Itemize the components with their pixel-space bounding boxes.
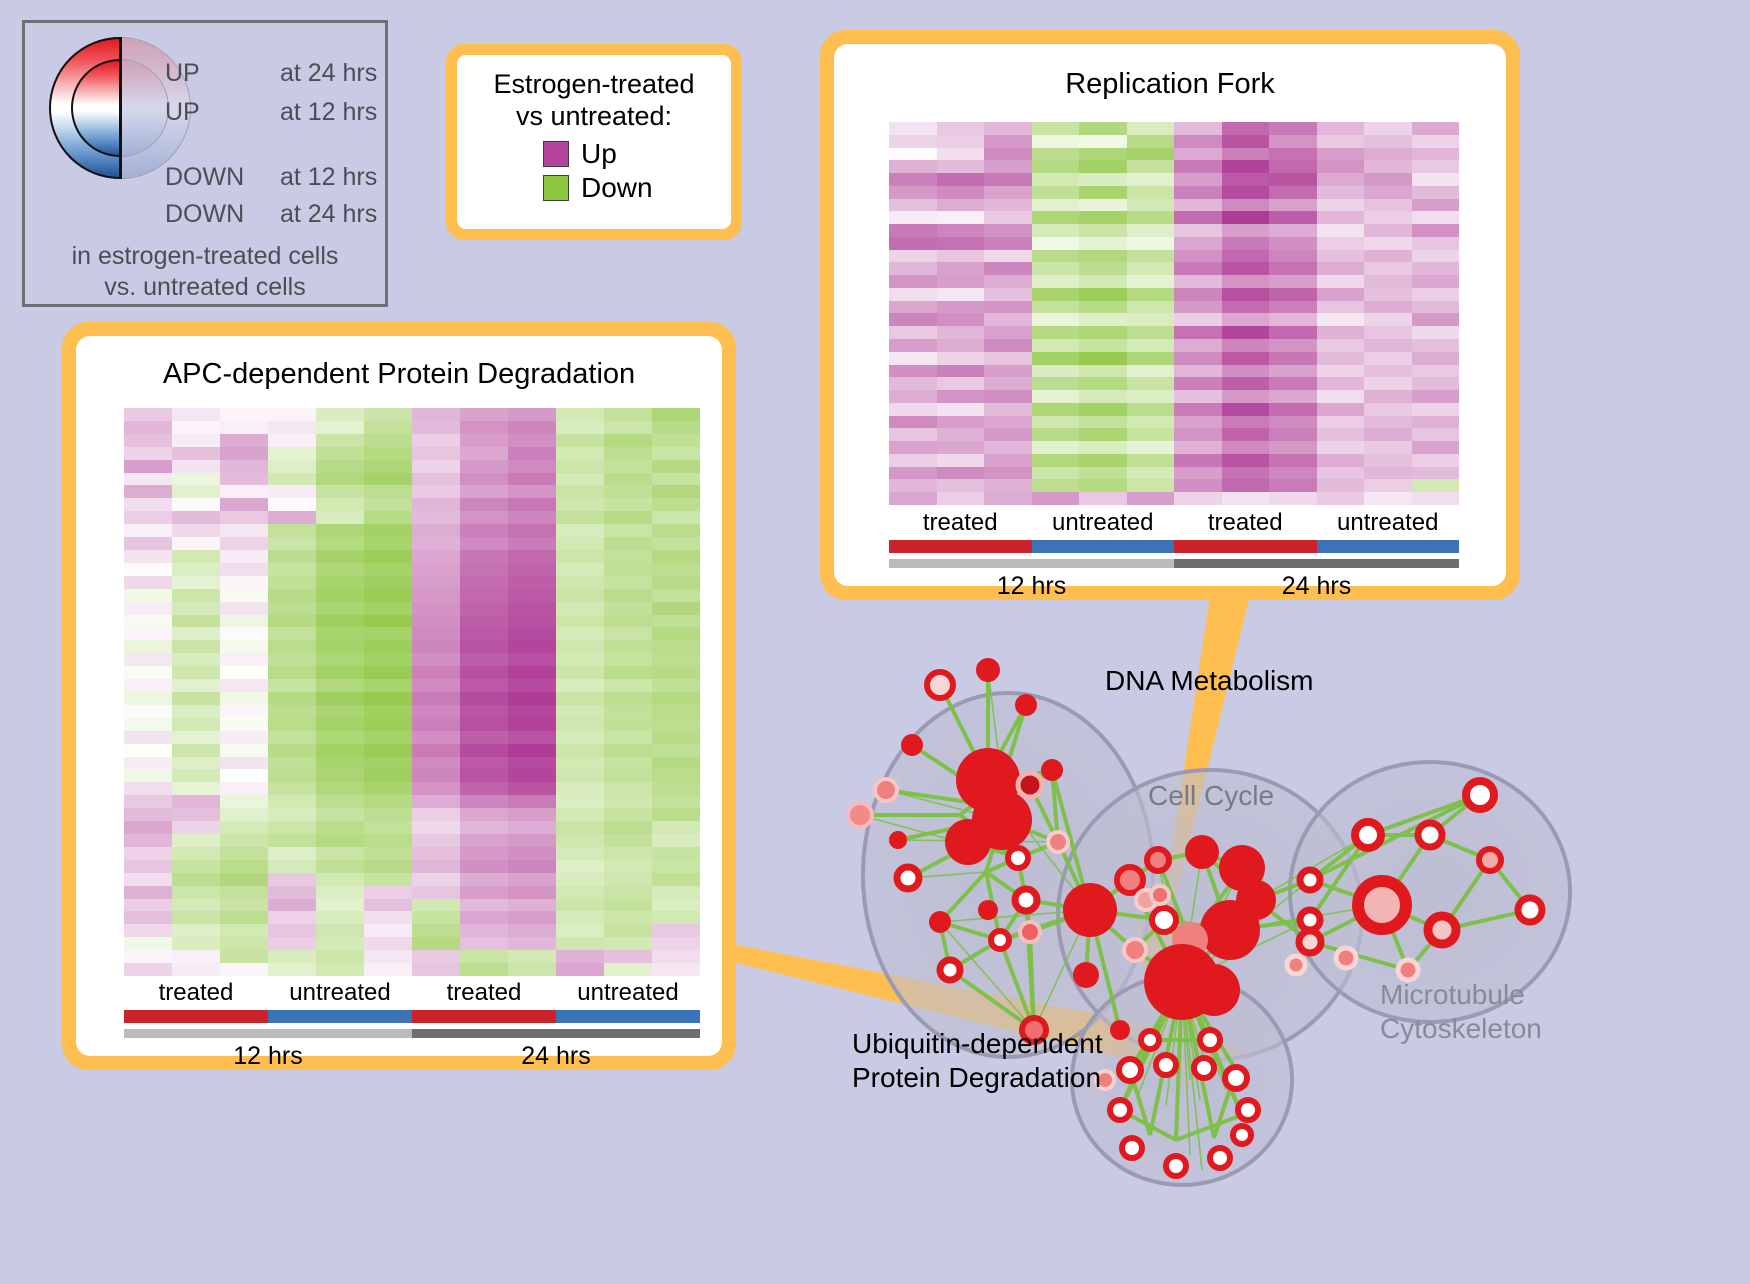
- time-label: 24 hrs: [412, 1042, 700, 1072]
- heatmap-cell: [172, 847, 220, 860]
- heatmap-cell: [124, 795, 172, 808]
- node[interactable]: [1110, 1020, 1130, 1040]
- heatmap-cell: [124, 485, 172, 498]
- heatmap-cell: [1079, 377, 1127, 390]
- legend-caption-line2: vs. untreated cells: [25, 272, 385, 303]
- heatmap-cell: [652, 911, 700, 924]
- heatmap-cell: [1032, 479, 1080, 492]
- node[interactable]: [1122, 1138, 1142, 1158]
- heatmap-cell: [604, 640, 652, 653]
- heatmap-cell: [889, 122, 937, 135]
- heatmap-cell: [1079, 275, 1127, 288]
- heatmap-cell: [1412, 390, 1460, 403]
- heatmap-cell: [1317, 352, 1365, 365]
- heatmap-cell: [460, 498, 508, 511]
- node[interactable]: [945, 819, 991, 865]
- cluster-label-ubiquitin: Ubiquitin-dependent Protein Degradation: [852, 1027, 1103, 1094]
- heatmap-cell: [460, 782, 508, 795]
- heatmap-cell: [1317, 441, 1365, 454]
- heatmap-cell: [1317, 237, 1365, 250]
- heatmap-cell: [1269, 250, 1317, 263]
- node[interactable]: [1479, 849, 1501, 871]
- node[interactable]: [1336, 948, 1356, 968]
- heatmap-cell: [316, 808, 364, 821]
- heatmap-cell: [412, 692, 460, 705]
- heatmap-cell: [1127, 454, 1175, 467]
- node[interactable]: [1018, 773, 1042, 797]
- heatmap-cell: [604, 808, 652, 821]
- heatmap-cell: [652, 537, 700, 550]
- heatmap-cell: [556, 421, 604, 434]
- figure-canvas: UP at 24 hrs UP at 12 hrs DOWN at 12 hrs…: [0, 0, 1750, 1279]
- node[interactable]: [1358, 881, 1406, 929]
- heatmap-cell: [1269, 454, 1317, 467]
- heatmap-cell: [316, 485, 364, 498]
- cluster-label-ubiquitin-line2: Protein Degradation: [852, 1061, 1103, 1095]
- heatmap-cell: [1079, 148, 1127, 161]
- node[interactable]: [1418, 823, 1442, 847]
- heatmap-cell: [937, 211, 985, 224]
- heatmap-cell: [1032, 390, 1080, 403]
- heatmap-cell: [268, 524, 316, 537]
- heatmap-cell: [364, 576, 412, 589]
- heatmap-cell: [1364, 365, 1412, 378]
- heatmap-cell: [1079, 403, 1127, 416]
- node[interactable]: [1185, 835, 1219, 869]
- heatmap-cell: [1174, 275, 1222, 288]
- heatmap-cell: [1127, 428, 1175, 441]
- heatmap-cell: [364, 744, 412, 757]
- node[interactable]: [1141, 1031, 1159, 1049]
- heatmap-cell: [508, 666, 556, 679]
- heatmap-cell: [1412, 313, 1460, 326]
- heatmap-cell: [556, 924, 604, 937]
- heatmap-cell: [1222, 403, 1270, 416]
- heatmap-cell: [316, 602, 364, 615]
- node[interactable]: [1428, 916, 1456, 944]
- time-label: 12 hrs: [124, 1042, 412, 1072]
- heatmap-cell: [172, 408, 220, 421]
- node[interactable]: [1119, 1059, 1141, 1081]
- heatmap-cell: [364, 899, 412, 912]
- heatmap-cell: [268, 744, 316, 757]
- heatmap-cell: [1317, 492, 1365, 505]
- node[interactable]: [848, 803, 872, 827]
- heatmap-cell: [124, 692, 172, 705]
- heatmap-cell: [556, 769, 604, 782]
- heatmap-cell: [604, 731, 652, 744]
- heatmap-cell: [1174, 288, 1222, 301]
- heatmap-cell: [1222, 377, 1270, 390]
- heatmap-cell: [1222, 148, 1270, 161]
- node[interactable]: [1152, 908, 1176, 932]
- heatmap-cell: [1032, 428, 1080, 441]
- heatmap-cell: [172, 808, 220, 821]
- heatmap-cell: [220, 705, 268, 718]
- heatmap-cell: [984, 122, 1032, 135]
- heatmap-cell: [172, 563, 220, 576]
- heatmap-cell: [220, 640, 268, 653]
- heatmap-cell: [937, 313, 985, 326]
- heatmap-cell: [412, 937, 460, 950]
- node[interactable]: [927, 672, 953, 698]
- heatmap-cell: [556, 615, 604, 628]
- heatmap-cell: [1174, 160, 1222, 173]
- heatmap-cell: [124, 847, 172, 860]
- node[interactable]: [1225, 1067, 1247, 1089]
- heatmap-cell: [937, 492, 985, 505]
- heatmap-cell: [1412, 262, 1460, 275]
- heatmap-cell: [220, 485, 268, 498]
- heatmap-cell: [268, 847, 316, 860]
- heatmap-cell: [220, 911, 268, 924]
- heatmap-cell: [604, 563, 652, 576]
- heatmap-apc-time-bar: [124, 1029, 700, 1038]
- heatmap-cell: [124, 653, 172, 666]
- heatmap-replication-time-labels: 12 hrs24 hrs: [889, 572, 1459, 602]
- heatmap-cell: [1174, 428, 1222, 441]
- node[interactable]: [978, 900, 998, 920]
- heatmap-cell: [508, 511, 556, 524]
- heatmap-cell: [220, 434, 268, 447]
- node[interactable]: [1194, 1058, 1214, 1078]
- heatmap-cell: [1127, 377, 1175, 390]
- heatmap-cell: [172, 602, 220, 615]
- heatmap-cell: [652, 834, 700, 847]
- node[interactable]: [1188, 964, 1240, 1016]
- network-svg: [790, 610, 1740, 1279]
- heatmap-cell: [172, 666, 220, 679]
- heatmap-cell: [172, 886, 220, 899]
- heatmap-cell: [412, 731, 460, 744]
- heatmap-cell: [556, 808, 604, 821]
- heatmap-cell: [460, 524, 508, 537]
- heatmap-cell: [1174, 224, 1222, 237]
- legend-caption: in estrogen-treated cells vs. untreated …: [25, 241, 385, 302]
- node[interactable]: [1300, 870, 1320, 890]
- heatmap-cell: [652, 498, 700, 511]
- heatmap-cell: [1317, 122, 1365, 135]
- heatmap-cell: [268, 447, 316, 460]
- heatmap-cell: [364, 485, 412, 498]
- heatmap-cell: [220, 408, 268, 421]
- node[interactable]: [1008, 848, 1028, 868]
- node[interactable]: [1151, 886, 1169, 904]
- heatmap-cell: [1412, 135, 1460, 148]
- legend-updown-title: Estrogen-treated vs untreated:: [457, 69, 731, 132]
- heatmap-cell: [556, 757, 604, 770]
- heatmap-cell: [604, 744, 652, 757]
- heatmap-cell: [1412, 224, 1460, 237]
- node[interactable]: [1124, 939, 1146, 961]
- heatmap-cell: [220, 963, 268, 976]
- node[interactable]: [1355, 822, 1381, 848]
- heatmap-cell: [1222, 454, 1270, 467]
- heatmap-cell: [316, 589, 364, 602]
- node[interactable]: [976, 658, 1000, 682]
- heatmap-cell: [268, 498, 316, 511]
- heatmap-cell: [1032, 326, 1080, 339]
- heatmap-cell: [460, 731, 508, 744]
- heatmap-cell: [1364, 237, 1412, 250]
- heatmap-cell: [889, 301, 937, 314]
- node[interactable]: [875, 779, 897, 801]
- heatmap-cell: [508, 924, 556, 937]
- node[interactable]: [1147, 849, 1169, 871]
- heatmap-cell: [1032, 262, 1080, 275]
- node[interactable]: [1156, 1055, 1176, 1075]
- heatmap-cell: [412, 627, 460, 640]
- heatmap-apc-condition-bar: [124, 1010, 700, 1023]
- heatmap-cell: [556, 434, 604, 447]
- heatmap-cell: [364, 640, 412, 653]
- heatmap-cell: [652, 640, 700, 653]
- node[interactable]: [1015, 694, 1037, 716]
- heatmap-cell: [604, 795, 652, 808]
- node[interactable]: [1299, 931, 1321, 953]
- heatmap-cell: [1079, 492, 1127, 505]
- heatmap-cell: [1269, 211, 1317, 224]
- heatmap-cell: [460, 473, 508, 486]
- heatmap-cell: [364, 653, 412, 666]
- heatmap-cell: [124, 782, 172, 795]
- node[interactable]: [1466, 781, 1494, 809]
- node[interactable]: [1015, 889, 1037, 911]
- heatmap-cell: [1222, 313, 1270, 326]
- heatmap-cell: [1269, 479, 1317, 492]
- heatmap-cell: [508, 485, 556, 498]
- heatmap-cell: [1032, 122, 1080, 135]
- node[interactable]: [940, 960, 960, 980]
- heatmap-cell: [652, 821, 700, 834]
- heatmap-cell: [1222, 288, 1270, 301]
- swatch-up-icon: [543, 141, 569, 167]
- heatmap-cell: [316, 615, 364, 628]
- heatmap-cell: [556, 834, 604, 847]
- legend-time-down-12: at 12 hrs: [280, 163, 377, 192]
- node[interactable]: [1300, 910, 1320, 930]
- node[interactable]: [1073, 962, 1099, 988]
- heatmap-cell: [364, 769, 412, 782]
- heatmap-cell: [268, 924, 316, 937]
- heatmap-cell: [1222, 250, 1270, 263]
- heatmap-cell: [937, 224, 985, 237]
- node[interactable]: [901, 734, 923, 756]
- node[interactable]: [1041, 759, 1063, 781]
- legend-time-down-24: at 24 hrs: [280, 200, 377, 229]
- heatmap-cell: [1032, 377, 1080, 390]
- heatmap-cell: [1412, 211, 1460, 224]
- heatmap-cell: [1222, 160, 1270, 173]
- heatmap-cell: [460, 485, 508, 498]
- heatmap-cell: [316, 498, 364, 511]
- heatmap-cell: [556, 679, 604, 692]
- heatmap-cell: [1032, 301, 1080, 314]
- node[interactable]: [897, 867, 919, 889]
- time-color-segment: [412, 1029, 700, 1038]
- heatmap-cell: [604, 485, 652, 498]
- heatmap-cell: [172, 627, 220, 640]
- heatmap-cell: [984, 428, 1032, 441]
- heatmap-cell: [412, 769, 460, 782]
- node[interactable]: [1518, 898, 1542, 922]
- heatmap-cell: [172, 589, 220, 602]
- node[interactable]: [1287, 956, 1305, 974]
- condition-color-segment: [1174, 540, 1317, 553]
- heatmap-cell: [1269, 262, 1317, 275]
- heatmap-cell: [460, 653, 508, 666]
- heatmap-cell: [937, 326, 985, 339]
- heatmap-cell: [604, 602, 652, 615]
- node[interactable]: [929, 911, 951, 933]
- heatmap-cell: [1127, 173, 1175, 186]
- heatmap-cell: [508, 731, 556, 744]
- heatmap-cell: [937, 479, 985, 492]
- heatmap-cell: [889, 199, 937, 212]
- heatmap-cell: [1079, 237, 1127, 250]
- legend-label-up: Up: [581, 138, 617, 170]
- node[interactable]: [1048, 832, 1068, 852]
- heatmap-cell: [1412, 275, 1460, 288]
- heatmap-cell: [364, 782, 412, 795]
- heatmap-cell: [316, 434, 364, 447]
- heatmap-cell: [937, 250, 985, 263]
- legend-row-down-12: DOWN at 12 hrs: [165, 163, 377, 192]
- heatmap-cell: [316, 950, 364, 963]
- heatmap-cell: [268, 408, 316, 421]
- node[interactable]: [1020, 922, 1040, 942]
- heatmap-cell: [508, 576, 556, 589]
- heatmap-cell: [268, 899, 316, 912]
- heatmap-cell: [412, 795, 460, 808]
- heatmap-cell: [1127, 467, 1175, 480]
- node[interactable]: [1233, 1126, 1251, 1144]
- heatmap-cell: [364, 537, 412, 550]
- heatmap-cell: [1269, 390, 1317, 403]
- cluster-label-dna-metabolism: DNA Metabolism: [1105, 665, 1314, 697]
- heatmap-cell: [1127, 416, 1175, 429]
- legend-updown-title-line2: vs untreated:: [457, 101, 731, 133]
- heatmap-cell: [1269, 339, 1317, 352]
- heatmap-cell: [556, 460, 604, 473]
- heatmap-cell: [364, 795, 412, 808]
- network-diagram: DNA Metabolism Cell Cycle Microtubule Cy…: [790, 610, 1740, 1279]
- legend-state-up-24: UP: [165, 59, 273, 88]
- heatmap-cell: [1269, 199, 1317, 212]
- heatmap-cell: [316, 937, 364, 950]
- heatmap-cell: [1079, 301, 1127, 314]
- heatmap-cell: [172, 821, 220, 834]
- heatmap-cell: [1174, 186, 1222, 199]
- heatmap-cell: [937, 173, 985, 186]
- heatmap-cell: [984, 237, 1032, 250]
- node[interactable]: [889, 831, 907, 849]
- node[interactable]: [991, 931, 1009, 949]
- heatmap-cell: [460, 873, 508, 886]
- heatmap-cell: [172, 937, 220, 950]
- heatmap-cell: [124, 511, 172, 524]
- heatmap-cell: [1364, 416, 1412, 429]
- heatmap-cell: [889, 428, 937, 441]
- heatmap-cell: [316, 563, 364, 576]
- heatmap-cell: [1079, 211, 1127, 224]
- heatmap-cell: [1174, 339, 1222, 352]
- heatmap-cell: [412, 847, 460, 860]
- heatmap-cell: [460, 511, 508, 524]
- heatmap-cell: [937, 122, 985, 135]
- heatmap-cell: [1412, 479, 1460, 492]
- heatmap-cell: [412, 911, 460, 924]
- heatmap-cell: [1127, 479, 1175, 492]
- heatmap-cell: [1317, 313, 1365, 326]
- heatmap-cell: [1364, 390, 1412, 403]
- node[interactable]: [1117, 867, 1143, 893]
- heatmap-cell: [268, 886, 316, 899]
- heatmap-cell: [889, 377, 937, 390]
- heatmap-cell: [316, 666, 364, 679]
- heatmap-cell: [1032, 492, 1080, 505]
- heatmap-cell: [937, 339, 985, 352]
- node[interactable]: [1063, 883, 1117, 937]
- heatmap-cell: [1269, 301, 1317, 314]
- heatmap-cell: [652, 408, 700, 421]
- heatmap-cell: [124, 963, 172, 976]
- heatmap-cell: [460, 963, 508, 976]
- heatmap-cell: [364, 705, 412, 718]
- heatmap-cell: [412, 653, 460, 666]
- heatmap-cell: [508, 434, 556, 447]
- heatmap-cell: [172, 460, 220, 473]
- heatmap-cell: [1079, 467, 1127, 480]
- heatmap-cell: [556, 653, 604, 666]
- node[interactable]: [1200, 1030, 1220, 1050]
- heatmap-cell: [508, 692, 556, 705]
- heatmap-cell: [1269, 122, 1317, 135]
- heatmap-cell: [604, 782, 652, 795]
- heatmap-cell: [508, 899, 556, 912]
- heatmap-cell: [556, 563, 604, 576]
- heatmap-cell: [1412, 148, 1460, 161]
- heatmap-cell: [1412, 467, 1460, 480]
- heatmap-cell: [1222, 352, 1270, 365]
- heatmap-cell: [508, 589, 556, 602]
- heatmap-cell: [316, 834, 364, 847]
- heatmap-cell: [220, 563, 268, 576]
- heatmap-cell: [984, 365, 1032, 378]
- heatmap-cell: [412, 679, 460, 692]
- node[interactable]: [1398, 960, 1418, 980]
- heatmap-replication-time-bar: [889, 559, 1459, 568]
- node[interactable]: [1210, 1148, 1230, 1168]
- heatmap-cell: [1127, 352, 1175, 365]
- heatmap-cell: [1174, 365, 1222, 378]
- node[interactable]: [1200, 900, 1260, 960]
- heatmap-cell: [172, 705, 220, 718]
- heatmap-cell: [460, 821, 508, 834]
- heatmap-cell: [124, 899, 172, 912]
- heatmap-cell: [652, 924, 700, 937]
- condition-color-segment: [556, 1010, 700, 1023]
- node[interactable]: [1238, 1100, 1258, 1120]
- condition-color-segment: [268, 1010, 412, 1023]
- node[interactable]: [1110, 1100, 1130, 1120]
- heatmap-cell: [220, 679, 268, 692]
- heatmap-cell: [268, 666, 316, 679]
- heatmap-cell: [220, 498, 268, 511]
- heatmap-cell: [412, 950, 460, 963]
- heatmap-cell: [604, 873, 652, 886]
- node[interactable]: [1166, 1156, 1186, 1176]
